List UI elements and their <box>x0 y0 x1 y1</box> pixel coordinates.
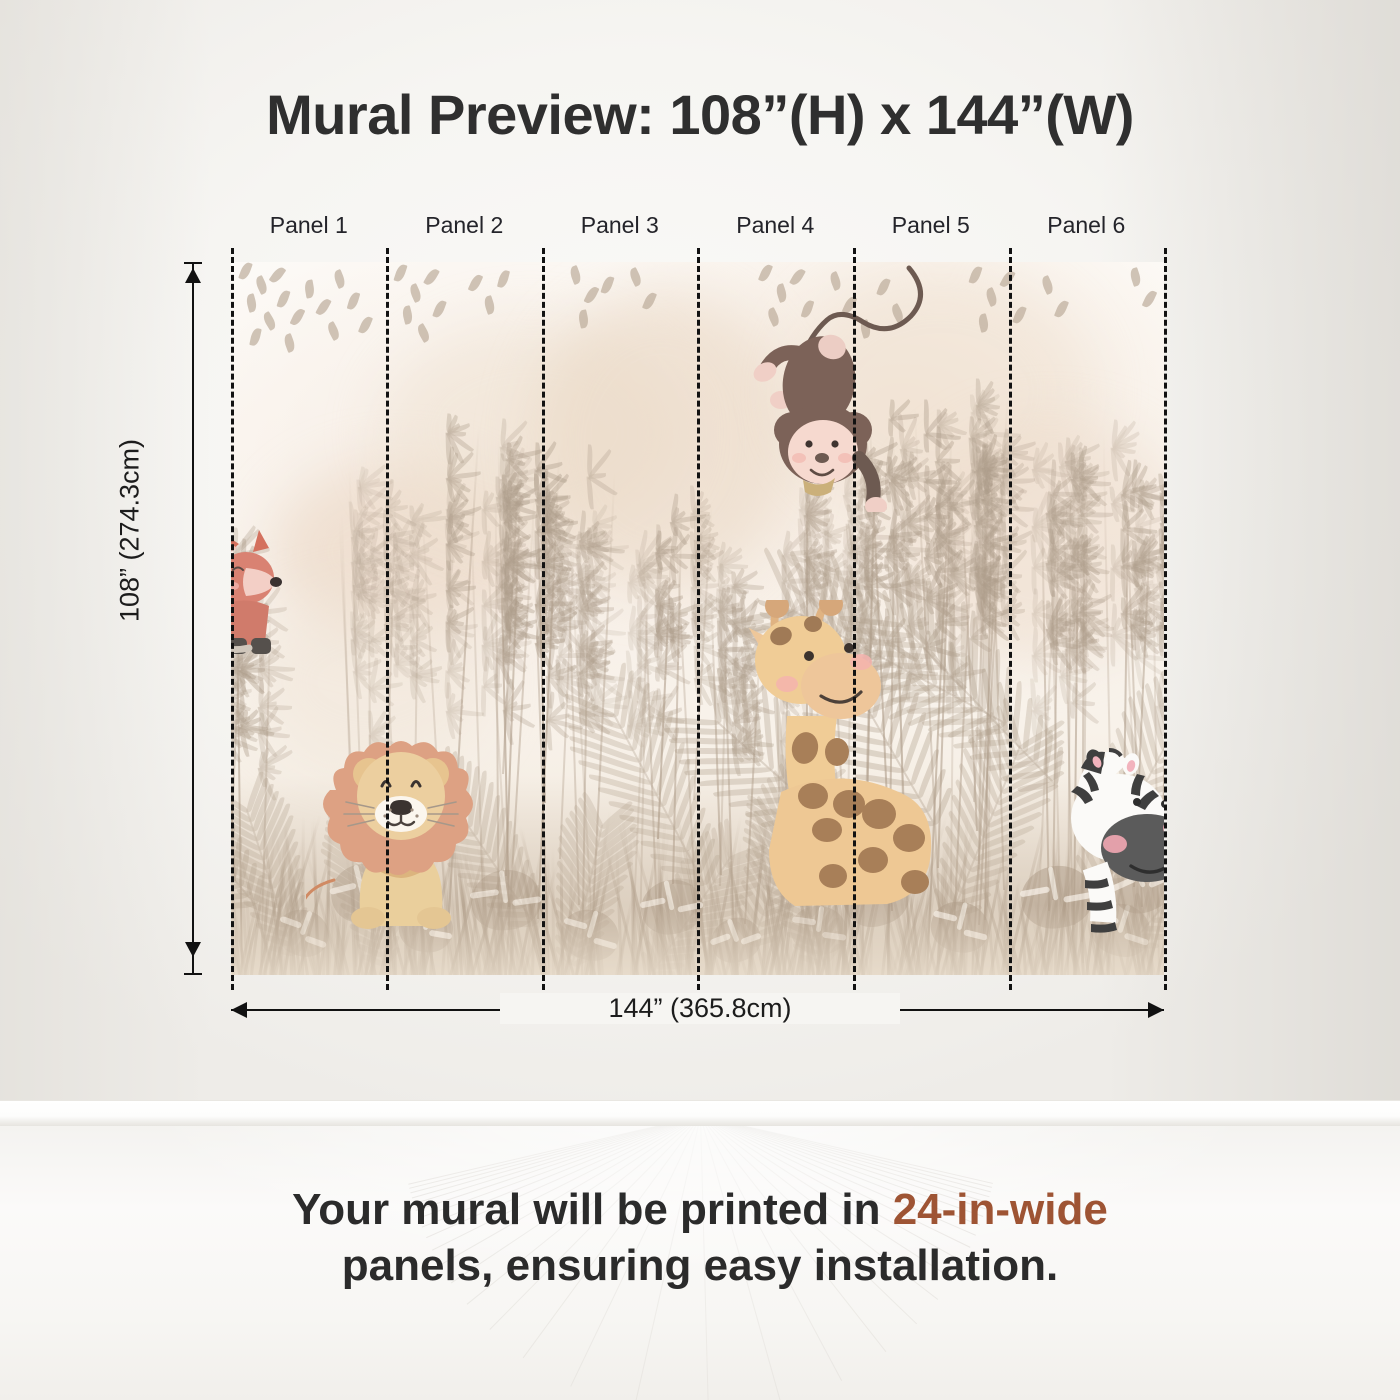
panel-divider-1 <box>386 248 389 990</box>
height-tick-top <box>184 262 202 264</box>
width-arrow-right <box>1148 1002 1164 1018</box>
width-dimension-label: 144” (365.8cm) <box>500 993 900 1024</box>
caption-prefix: Your mural will be printed in <box>292 1185 893 1234</box>
baseboard <box>0 1100 1400 1126</box>
height-tick-bottom <box>184 973 202 975</box>
height-dimension-line <box>192 262 194 975</box>
mural-preview-page: Mural Preview: 108”(H) x 144”(W) Panel 1… <box>0 0 1400 1400</box>
panel-label-3: Panel 3 <box>542 212 698 244</box>
caption-accent: 24-in-wide <box>893 1185 1108 1234</box>
height-dimension-label: 108” (274.3cm) <box>115 401 146 661</box>
zebra-illustration <box>1059 742 1164 942</box>
footer-caption: Your mural will be printed in 24-in-wide… <box>0 1182 1400 1295</box>
monkey-illustration <box>731 262 931 512</box>
panel-divider-4 <box>853 248 856 990</box>
caption-line-2: panels, ensuring easy installation. <box>0 1238 1400 1294</box>
giraffe-illustration <box>709 600 969 930</box>
panel-label-5: Panel 5 <box>853 212 1009 244</box>
panel-label-row: Panel 1 Panel 2 Panel 3 Panel 4 Panel 5 … <box>231 212 1164 244</box>
lion-illustration <box>306 730 496 930</box>
width-arrow-left <box>231 1002 247 1018</box>
page-title: Mural Preview: 108”(H) x 144”(W) <box>0 82 1400 147</box>
panel-divider-0 <box>231 248 234 990</box>
panel-label-4: Panel 4 <box>698 212 854 244</box>
caption-line-1: Your mural will be printed in 24-in-wide <box>0 1182 1400 1238</box>
panel-label-2: Panel 2 <box>387 212 543 244</box>
panel-divider-6 <box>1164 248 1167 990</box>
height-arrow-down <box>185 942 201 957</box>
height-arrow-up <box>185 268 201 283</box>
wall-shadow-left <box>0 0 210 1108</box>
panel-label-1: Panel 1 <box>231 212 387 244</box>
panel-divider-2 <box>542 248 545 990</box>
panel-divider-5 <box>1009 248 1012 990</box>
panel-label-6: Panel 6 <box>1009 212 1165 244</box>
fox-illustration <box>231 522 295 672</box>
panel-divider-3 <box>697 248 700 990</box>
